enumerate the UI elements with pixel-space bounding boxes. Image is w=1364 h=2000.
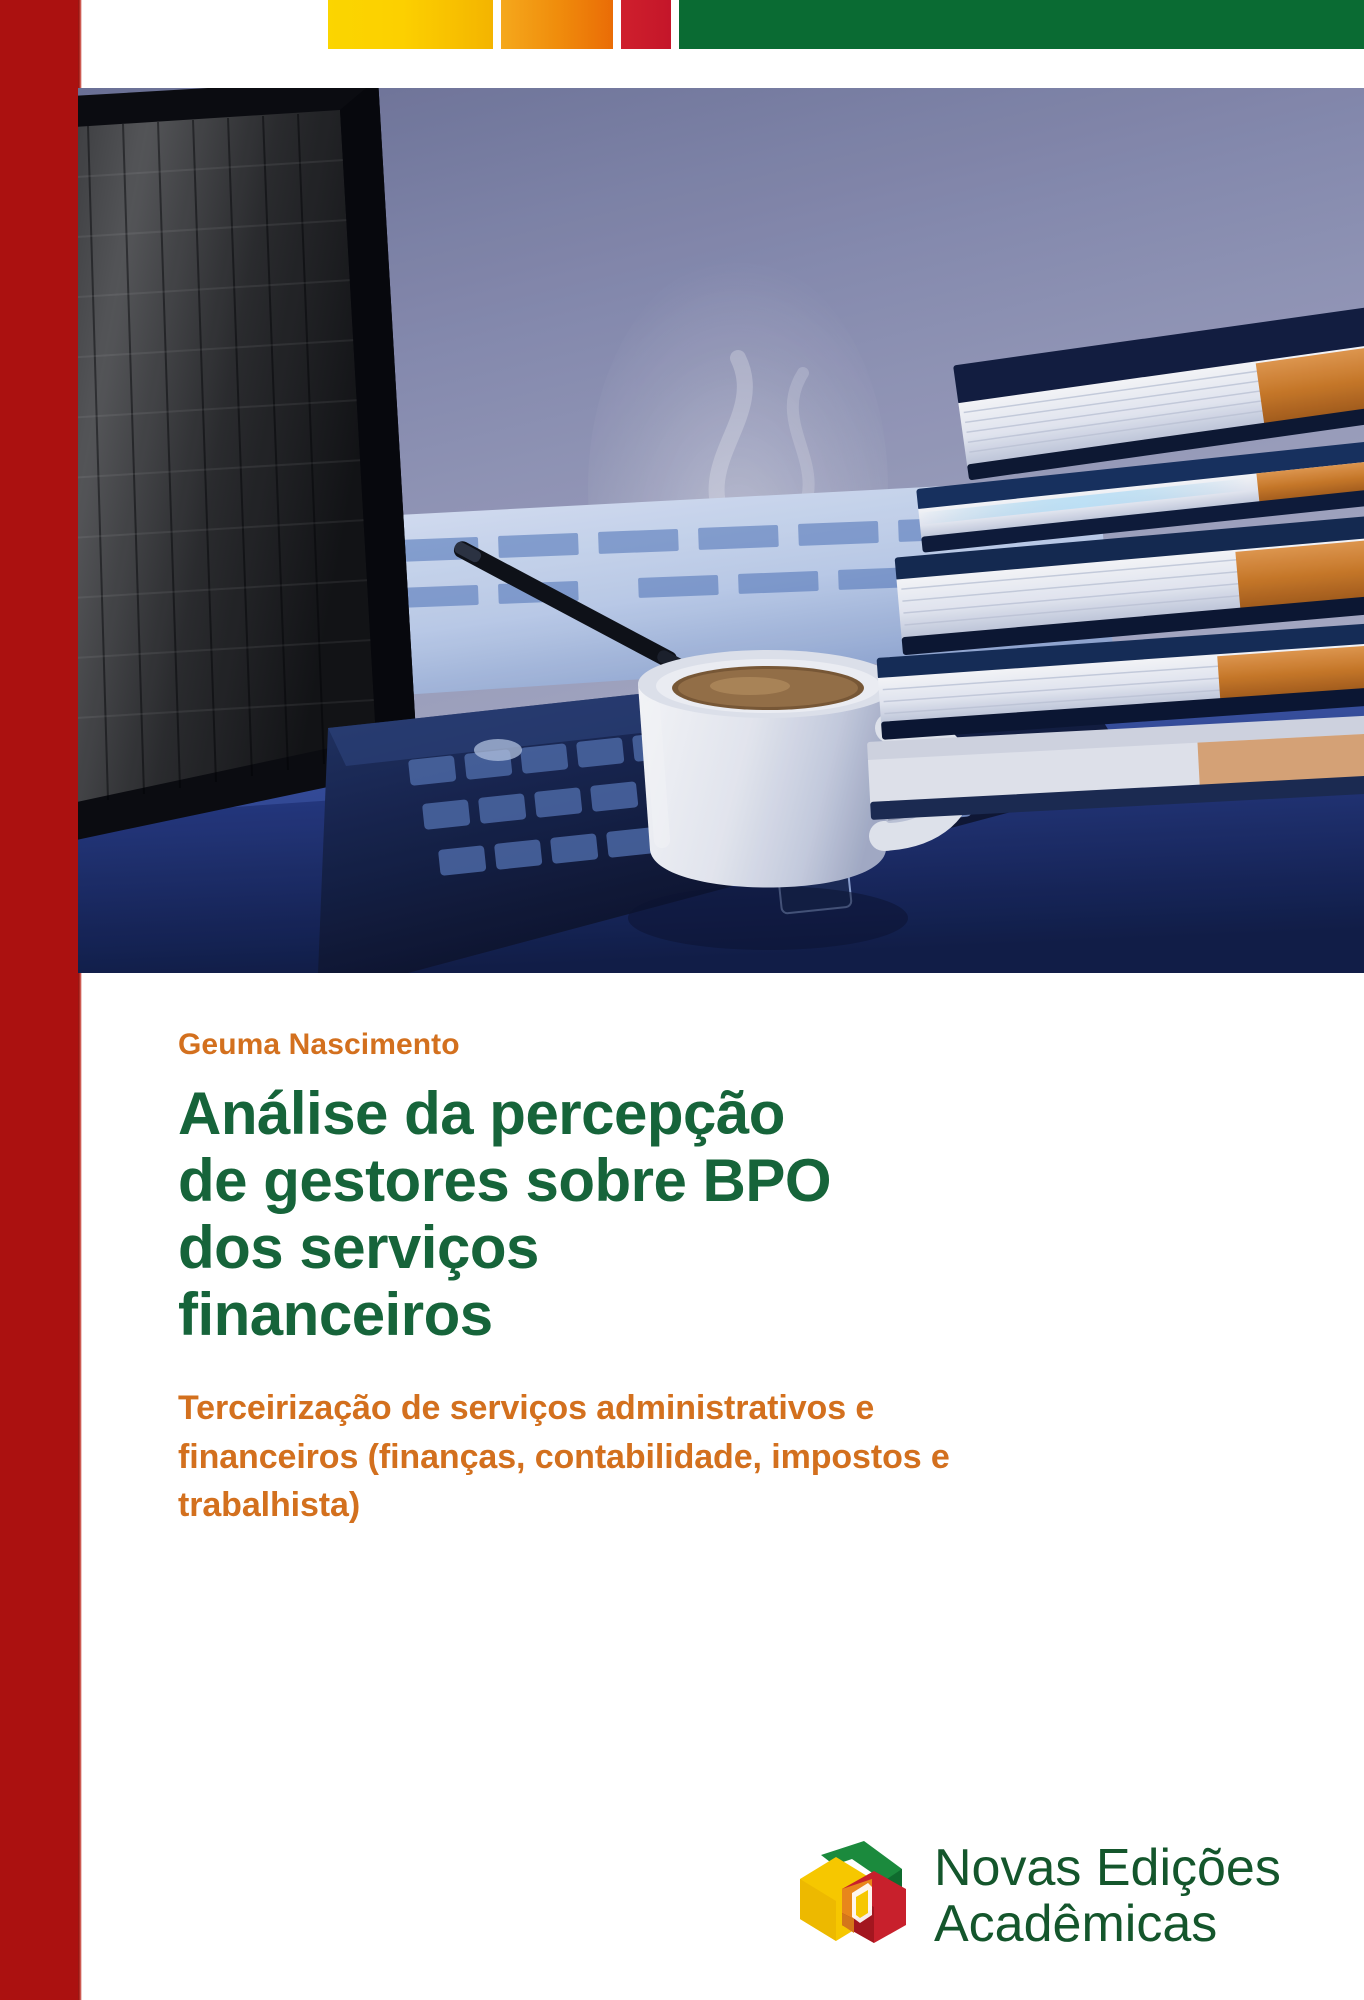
publisher-name-line2: Acadêmicas — [934, 1896, 1281, 1952]
cover-photo-illustration — [78, 88, 1364, 973]
publisher-block: Novas Edições Acadêmicas — [790, 1826, 1310, 1966]
publisher-hexagon-cube-icon — [790, 1837, 912, 1955]
author-name: Geuma Nascimento — [178, 1026, 1288, 1064]
top-bar-segment-green — [679, 0, 1364, 49]
publisher-name-line1: Novas Edições — [934, 1839, 1281, 1897]
top-bar-segment-orange — [501, 0, 613, 49]
top-color-bar — [0, 0, 1364, 49]
book-title: Análise da percepção de gestores sobre B… — [178, 1080, 868, 1349]
book-cover: Geuma Nascimento Análise da percepção de… — [0, 0, 1364, 2000]
top-bar-segment-yellow — [328, 0, 493, 49]
cover-photo — [78, 88, 1364, 973]
book-subtitle: Terceirização de serviços administrativo… — [178, 1384, 1008, 1529]
publisher-name: Novas Edições Acadêmicas — [934, 1840, 1281, 1952]
cover-spine — [0, 0, 78, 2000]
top-bar-segment-red — [621, 0, 671, 49]
cover-text-block: Geuma Nascimento Análise da percepção de… — [178, 1026, 1288, 1529]
